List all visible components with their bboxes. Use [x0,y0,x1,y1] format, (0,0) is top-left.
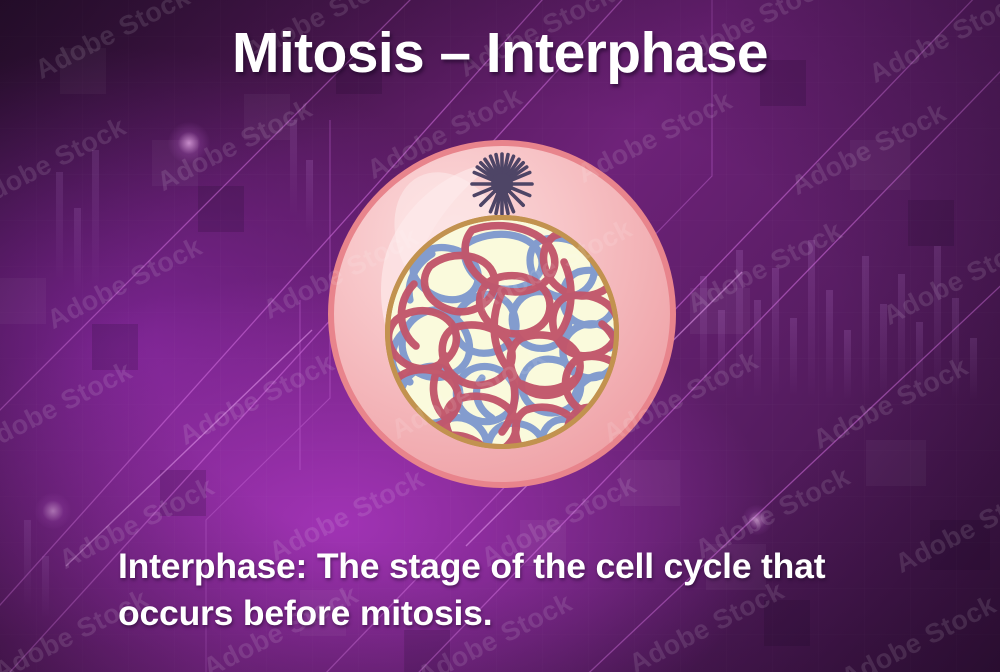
interphase-cell-illustration [326,132,678,498]
poster-canvas: Adobe StockAdobe StockAdobe StockAdobe S… [0,0,1000,672]
centrosome-icon [472,154,532,214]
caption-text: Interphase: The stage of the cell cycle … [118,543,928,637]
page-title: Mitosis – Interphase [0,20,1000,86]
